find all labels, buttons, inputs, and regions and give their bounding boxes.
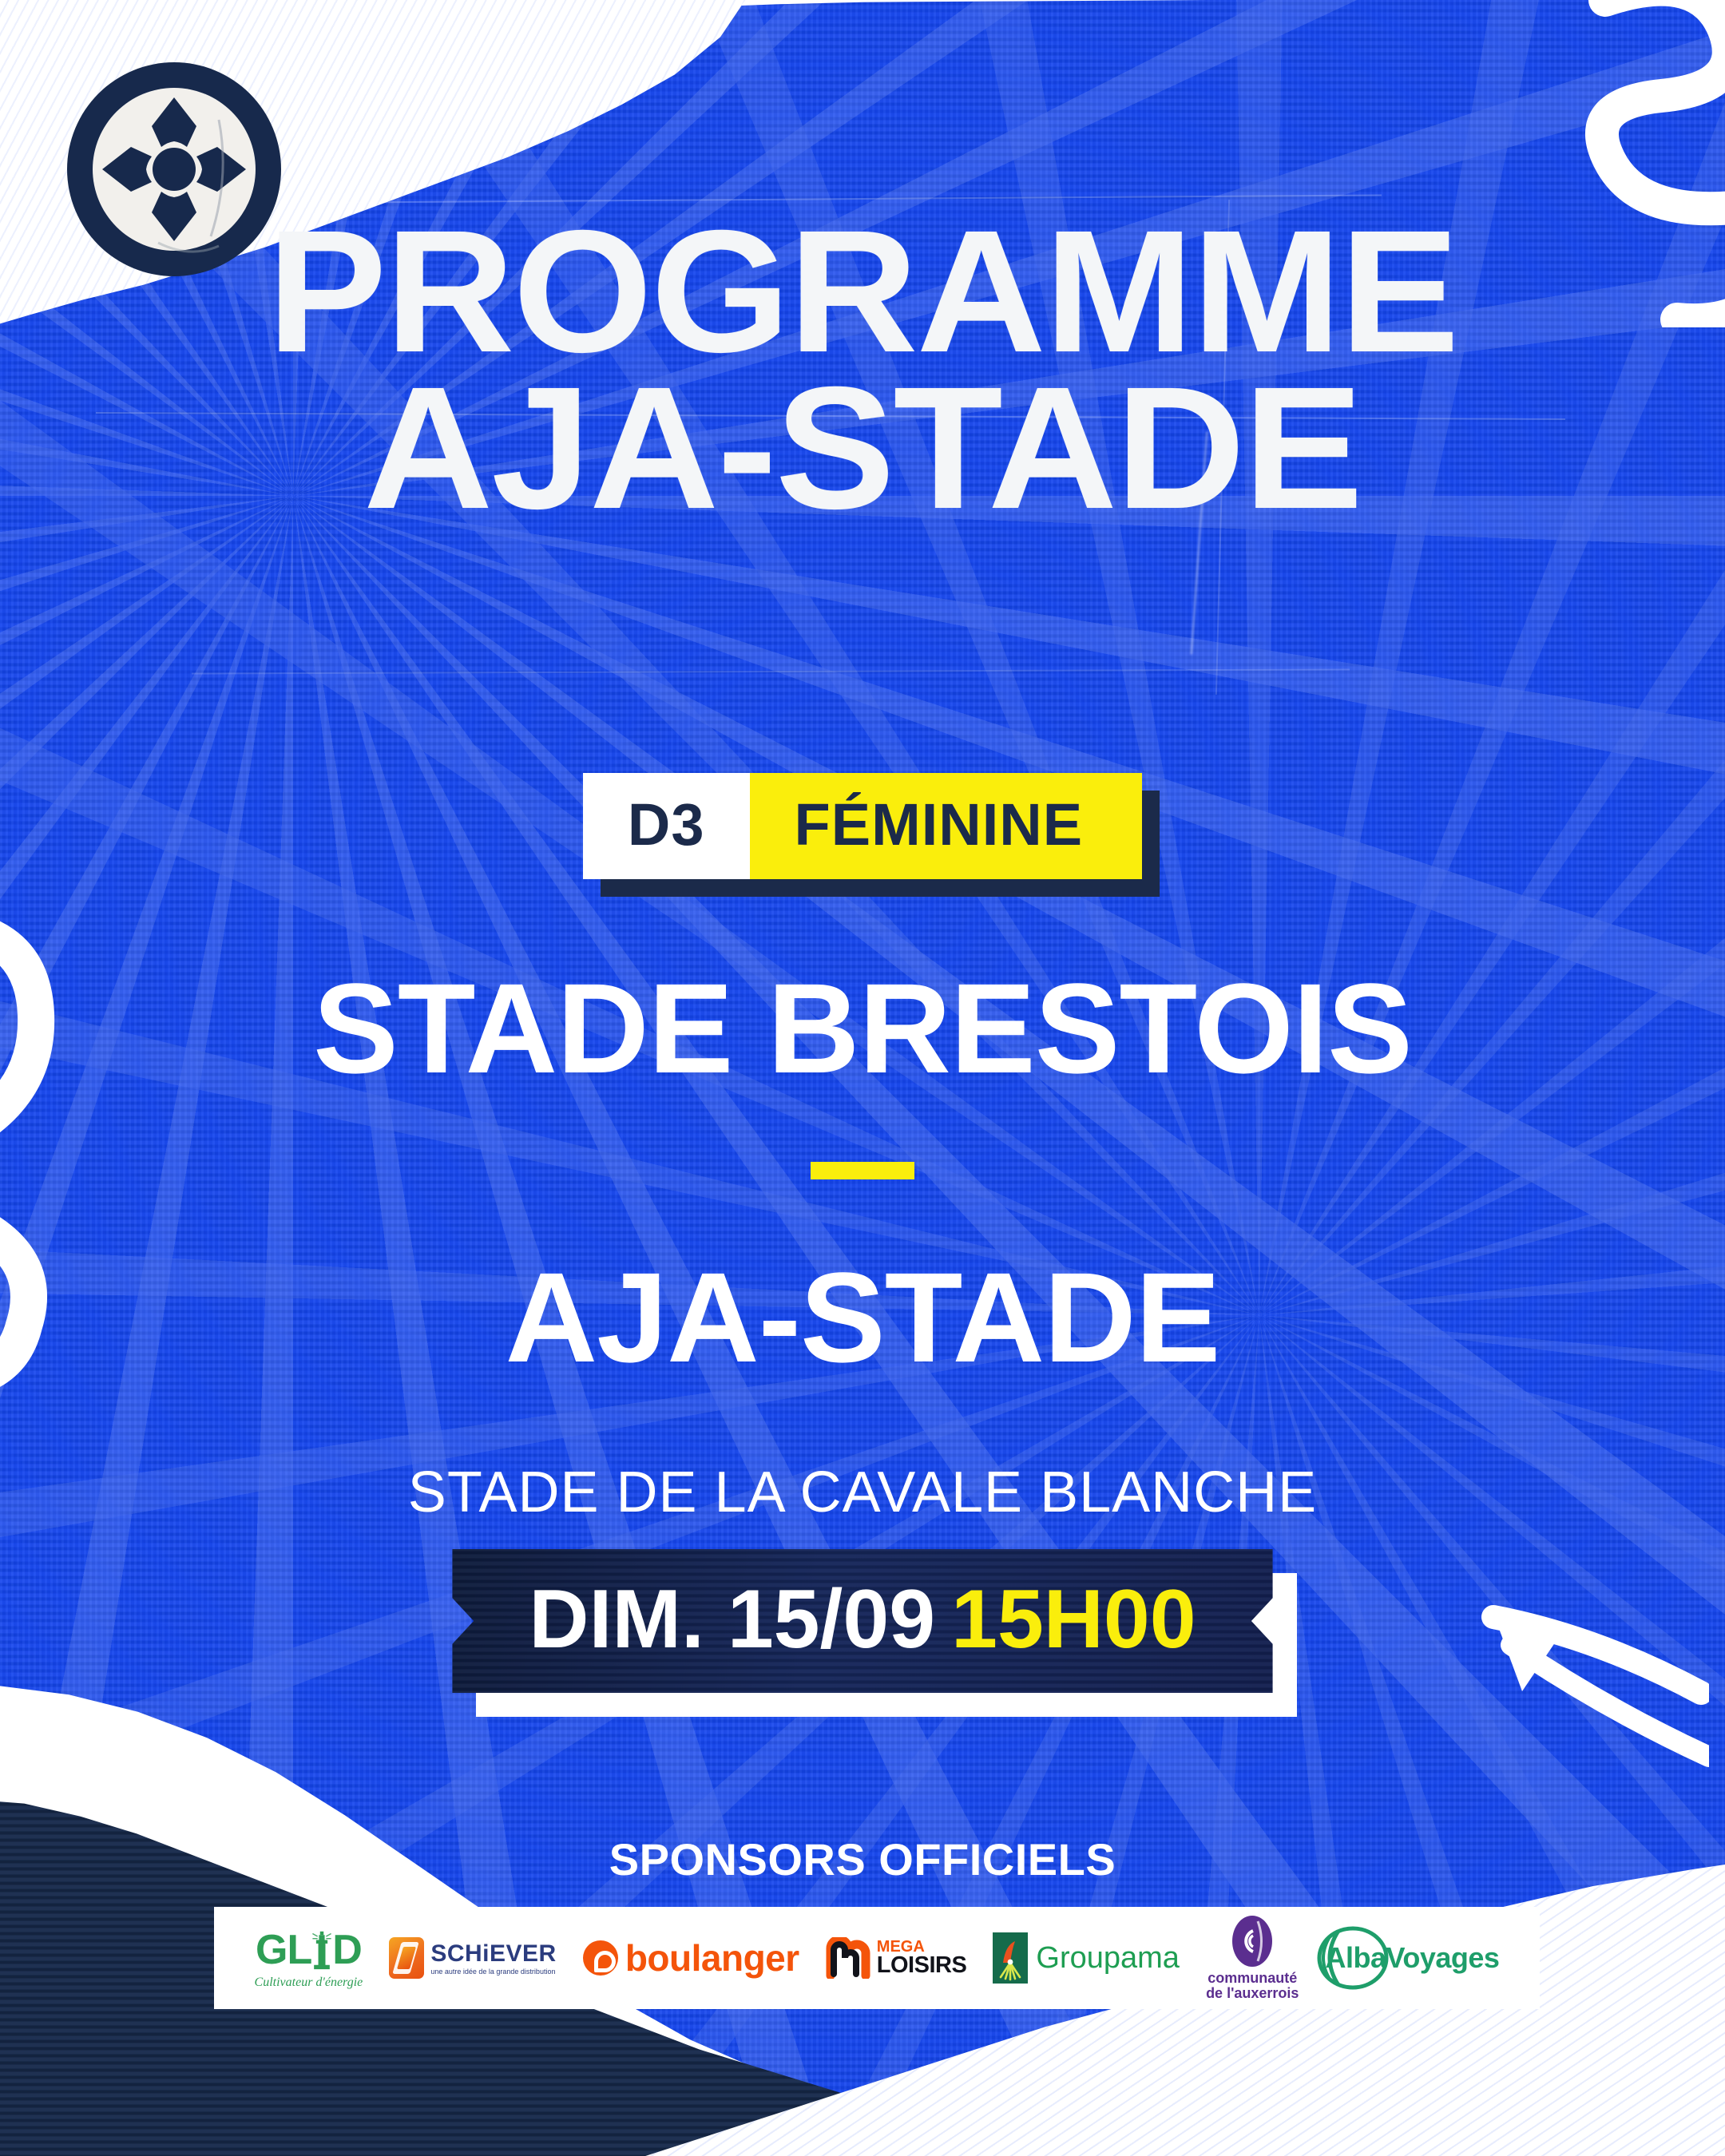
sponsor-logo-groupama: Groupama bbox=[993, 1907, 1180, 2009]
sponsor-logo-albavoyages: AlbaVoyages bbox=[1326, 1907, 1500, 2009]
schiever-tagline: une autre idée de la grande distribution bbox=[430, 1968, 556, 1976]
lighthouse-icon bbox=[311, 1930, 332, 1970]
sponsor-logo-mega-loisirs: MEGA LOISIRS bbox=[826, 1907, 967, 2009]
auxerrois-mark-icon bbox=[1229, 1915, 1275, 1968]
alba-name: AlbaVoyages bbox=[1326, 1941, 1500, 1975]
glhd-name: GL bbox=[256, 1926, 311, 1974]
auxerrois-line-2: de l'auxerrois bbox=[1206, 1986, 1299, 2001]
competition-badge: D3 FÉMININE bbox=[583, 773, 1142, 879]
sponsor-logo-glhd: GL D Cultivateur d'énergie bbox=[255, 1907, 363, 2009]
poster-content: PROGRAMME AJA-STADE D3 FÉMININE STADE BR… bbox=[0, 0, 1725, 2156]
competition-badge-wrap: D3 FÉMININE bbox=[0, 773, 1725, 879]
versus-separator bbox=[811, 1162, 914, 1179]
glhd-tagline: Cultivateur d'énergie bbox=[255, 1976, 363, 1990]
date-banner: DIM. 15/0915H00 bbox=[452, 1549, 1272, 1693]
sponsor-logo-boulanger: boulanger bbox=[583, 1907, 799, 2009]
headline-line-1: PROGRAMME bbox=[0, 214, 1725, 371]
match-announcement-poster: PROGRAMME AJA-STADE D3 FÉMININE STADE BR… bbox=[0, 0, 1725, 2156]
schiever-mark-icon bbox=[389, 1937, 424, 1979]
groupama-mark-icon bbox=[993, 1932, 1028, 1984]
groupama-name: Groupama bbox=[1036, 1941, 1180, 1976]
sponsor-logo-schiever: SCHiEVER une autre idée de la grande dis… bbox=[389, 1907, 556, 2009]
auxerrois-line-1: communauté bbox=[1206, 1971, 1299, 1986]
match-time: 15H00 bbox=[951, 1573, 1196, 1666]
glhd-name-tail: D bbox=[332, 1926, 362, 1974]
date-banner-plate: DIM. 15/0915H00 bbox=[452, 1549, 1272, 1693]
sponsors-title: SPONSORS OFFICIELS bbox=[0, 1833, 1725, 1885]
mega-m-icon bbox=[826, 1937, 872, 1979]
boulanger-name: boulanger bbox=[625, 1936, 799, 1980]
sponsor-logo-communaute-auxerrois: communauté de l'auxerrois bbox=[1206, 1907, 1299, 2009]
date-banner-wrap: DIM. 15/0915H00 bbox=[0, 1549, 1725, 1693]
schiever-text: SCHiEVER une autre idée de la grande dis… bbox=[430, 1940, 556, 1976]
match-date: DIM. 15/09 bbox=[529, 1573, 935, 1666]
headline-line-2: AJA-STADE bbox=[0, 371, 1725, 527]
mega-line-2: LOISIRS bbox=[877, 1955, 967, 1977]
auxerrois-text: communauté de l'auxerrois bbox=[1206, 1971, 1299, 2002]
away-team-name: AJA-STADE bbox=[0, 1254, 1725, 1381]
mega-loisirs-text: MEGA LOISIRS bbox=[877, 1940, 967, 1977]
division-label: D3 bbox=[583, 773, 750, 879]
category-label: FÉMININE bbox=[750, 773, 1143, 879]
glhd-wordmark: GL D bbox=[256, 1926, 362, 1974]
date-time-text: DIM. 15/0915H00 bbox=[529, 1578, 1196, 1661]
venue-name: STADE DE LA CAVALE BLANCHE bbox=[0, 1460, 1725, 1525]
schiever-name: SCHiEVER bbox=[430, 1940, 556, 1968]
sponsors-bar: GL D Cultivateur d'énergie SCHiEVER une … bbox=[214, 1907, 1540, 2009]
page-title: PROGRAMME AJA-STADE bbox=[0, 214, 1725, 527]
home-team-name: STADE BRESTOIS bbox=[0, 965, 1725, 1092]
badge-inner: D3 FÉMININE bbox=[583, 773, 1142, 879]
boulanger-mark-icon bbox=[583, 1940, 618, 1976]
